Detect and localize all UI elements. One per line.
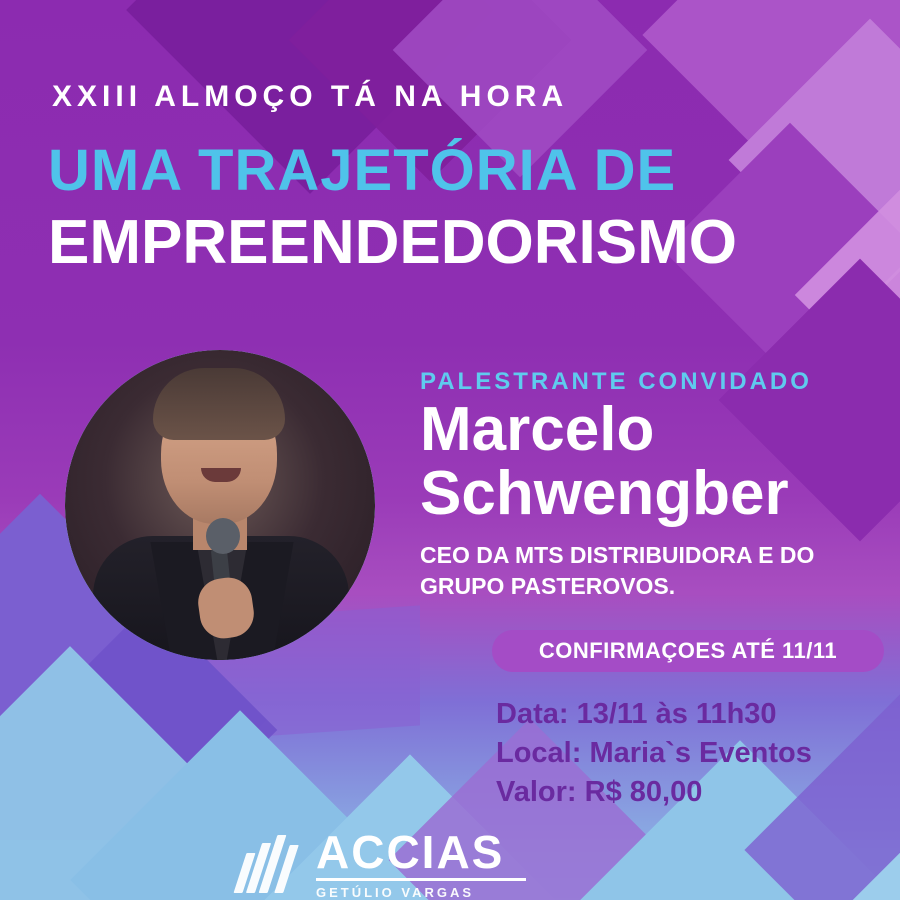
confirmation-text: CONFIRMAÇOES ATÉ 11/11: [539, 638, 837, 664]
speaker-photo-inner: [65, 350, 375, 660]
speaker-last-name: Schwengber: [420, 462, 890, 525]
accias-logo: ACCIAS GETÚLIO VARGAS: [240, 828, 660, 900]
speaker-role-line-2: GRUPO PASTEROVOS.: [420, 571, 890, 602]
speaker-photo: [65, 350, 375, 660]
accias-logo-text: ACCIAS GETÚLIO VARGAS: [316, 829, 526, 900]
speaker-role: CEO DA MTS DISTRIBUIDORA E DO GRUPO PAST…: [420, 540, 890, 602]
accias-logo-subtitle: GETÚLIO VARGAS: [316, 885, 526, 900]
poster-title-line-2: EMPREENDEDORISMO: [48, 212, 737, 274]
accias-logo-word: ACCIAS: [316, 829, 526, 875]
event-details: Data: 13/11 às 11h30 Local: Maria`s Even…: [496, 695, 896, 812]
speaker-role-line-1: CEO DA MTS DISTRIBUIDORA E DO: [420, 540, 890, 571]
photo-hair: [153, 368, 285, 440]
accias-logo-mark-icon: [240, 835, 302, 893]
event-poster: XXIII ALMOÇO TÁ NA HORA UMA TRAJETÓRIA D…: [0, 0, 900, 900]
poster-title-line-1: UMA TRAJETÓRIA DE: [48, 142, 676, 200]
accias-logo-rule: [316, 878, 526, 881]
event-date: Data: 13/11 às 11h30: [496, 695, 896, 734]
microphone-head-icon: [206, 518, 240, 554]
confirmation-badge: CONFIRMAÇOES ATÉ 11/11: [492, 630, 884, 672]
speaker-label: PALESTRANTE CONVIDADO: [420, 368, 880, 396]
event-place: Local: Maria`s Eventos: [496, 734, 896, 773]
event-kicker: XXIII ALMOÇO TÁ NA HORA: [52, 80, 568, 114]
speaker-first-name: Marcelo: [420, 398, 890, 461]
event-price: Valor: R$ 80,00: [496, 773, 896, 812]
